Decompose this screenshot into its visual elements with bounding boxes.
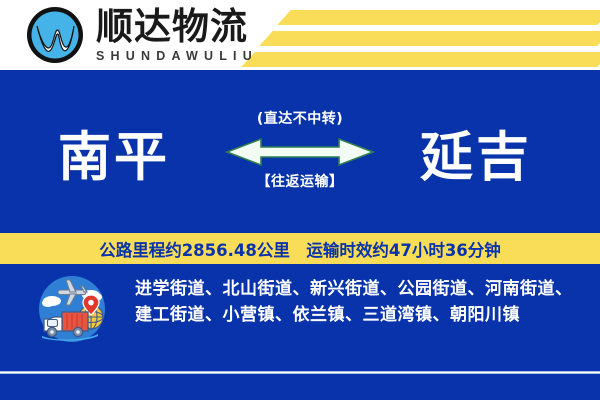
company-name-en: SHUNDAWULIU: [96, 48, 258, 64]
company-logo: 顺达物流 SHUNDAWULIU: [24, 4, 258, 66]
route-middle-block: (直达不中转) 【往返运输】: [200, 108, 400, 191]
roundtrip-service-note: 【往返运输】: [200, 171, 400, 191]
coverage-area-line-2: 建工街道、小营镇、依兰镇、三道湾镇、朝阳川镇: [135, 302, 585, 328]
bidirectional-arrow-icon: [200, 134, 400, 168]
origin-city-label: 南平: [58, 130, 170, 186]
company-name-cn: 顺达物流: [96, 7, 258, 47]
decorative-stripe-1: [277, 10, 600, 25]
direct-service-note: (直达不中转): [200, 108, 400, 128]
circular-w-swoosh-logo-icon: [24, 4, 86, 66]
decorative-stripe-2: [259, 31, 600, 46]
logistics-truck-plane-globe-icon: [36, 273, 108, 345]
coverage-area-line-1: 进学街道、北山街道、新兴街道、公园街道、河南街道、: [135, 279, 573, 299]
coverage-section: 进学街道、北山街道、新兴街道、公园街道、河南街道、 建工街道、小营镇、依兰镇、三…: [0, 264, 600, 372]
banner-header: 顺达物流 SHUNDAWULIU: [0, 0, 600, 70]
route-section: 南平 (直达不中转) 【往返运输】 延吉: [0, 70, 600, 233]
distance-and-duration-text: 公路里程约2856.48公里 运输时效约47小时36分钟: [99, 237, 501, 261]
logo-wordmark: 顺达物流 SHUNDAWULIU: [96, 7, 258, 64]
route-info-band: 公路里程约2856.48公里 运输时效约47小时36分钟: [0, 233, 600, 264]
decorative-stripe-3: [241, 52, 600, 67]
footer-area: [0, 374, 600, 400]
coverage-area-list: 进学街道、北山街道、新兴街道、公园街道、河南街道、 建工街道、小营镇、依兰镇、三…: [135, 276, 585, 328]
destination-city-label: 延吉: [420, 130, 532, 186]
logistics-route-banner: 顺达物流 SHUNDAWULIU 南平 (直达不中转) 【往返运输】 延吉 公路…: [0, 0, 600, 400]
